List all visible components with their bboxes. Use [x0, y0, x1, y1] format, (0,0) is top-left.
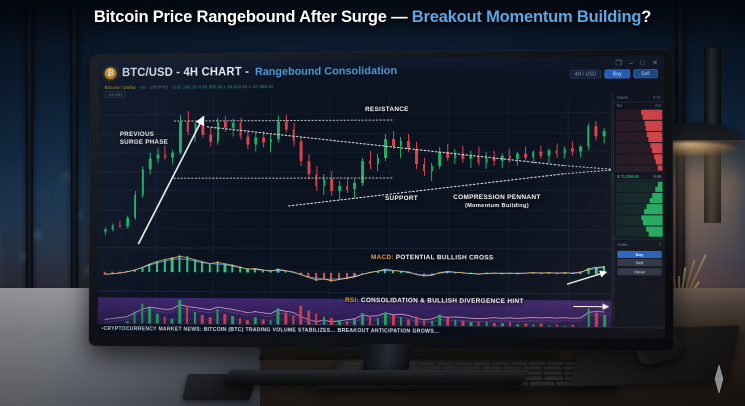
maximize-icon[interactable]: □	[640, 60, 644, 67]
orderbook-ask-row[interactable]	[616, 115, 662, 120]
orderbook-header-right: 0.01	[653, 94, 661, 99]
chart-title: BTC/USD - 4H CHART -	[122, 66, 249, 79]
orderbook-ask-row[interactable]	[616, 131, 662, 136]
symbol-name: Bitcoin / Dollar	[105, 85, 136, 90]
annotation-line2: (Momentum Building)	[453, 202, 540, 210]
chart-area[interactable]: PREVIOUS SURGE PHASE RESISTANCE SUPPORT …	[98, 93, 612, 339]
annotation-rsi-label: RSI:	[345, 297, 359, 304]
annotation-rsi: RSI: CONSOLIDATION & BULLISH DIVERGENCE …	[345, 297, 524, 305]
orderbook-ask-row[interactable]	[616, 126, 662, 131]
annotation-macd: MACD: POTENTIAL BULLISH CROSS	[371, 254, 494, 261]
orderbook-spread-price: $ 71,538.60	[617, 173, 639, 178]
orderbook-bid-row[interactable]	[616, 187, 662, 192]
window-controls: ❐ – □ ✕	[615, 59, 658, 67]
headline-tail: ?	[641, 8, 651, 26]
orderbook-ask-row[interactable]	[616, 120, 662, 125]
orderbook-header-left: Depth	[617, 95, 628, 100]
orderbook-col-bid: Bid	[617, 104, 622, 108]
orderbook-bid-row[interactable]	[616, 220, 662, 225]
pennant-apex-upper	[565, 166, 616, 170]
chart-subtitle: Rangebound Consolidation	[255, 65, 397, 78]
orderbook-ask-row[interactable]	[616, 109, 662, 114]
orderbook-bid-row[interactable]	[616, 198, 662, 203]
annotation-previous-surge-phase: PREVIOUS SURGE PHASE	[120, 131, 168, 147]
orderbook-bid-row[interactable]	[616, 215, 662, 220]
headline-accent: Breakout Momentum Building	[412, 8, 641, 26]
orderbook-bid-row[interactable]	[616, 181, 662, 186]
orderbook-ask-row[interactable]	[616, 137, 662, 142]
resistance-line	[207, 125, 565, 166]
orderbook-ask-row[interactable]	[616, 154, 662, 159]
monitor: ₿ BTC/USD - 4H CHART - Rangebound Consol…	[84, 52, 668, 348]
annotation-rsi-text: CONSOLIDATION & BULLISH DIVERGENCE HINT	[359, 297, 524, 305]
close-icon[interactable]: ✕	[652, 59, 658, 67]
annotation-line1: COMPRESSION PENNANT	[453, 194, 540, 202]
annotation-macd-text: POTENTIAL BULLISH CROSS	[394, 254, 494, 261]
monitor-stand-base	[223, 370, 530, 385]
orderbook-bid-row[interactable]	[616, 232, 662, 237]
symbol-meta: · 4H · CRYPTO · O 67,240.10 H 68,905.50 …	[137, 84, 273, 90]
annotation-line2: SURGE PHASE	[120, 139, 168, 147]
page-title: Bitcoin Price Rangebound After Surge — B…	[0, 8, 745, 27]
order-sell-button[interactable]: Sell	[617, 259, 661, 266]
buy-button[interactable]: Buy	[605, 69, 630, 78]
order-buy-button[interactable]: Buy	[617, 250, 661, 257]
annotation-resistance: RESISTANCE	[365, 106, 409, 113]
order-panel-title: Order	[617, 242, 628, 247]
restore-icon[interactable]: ❐	[615, 59, 621, 67]
bitcoin-icon: ₿	[105, 67, 117, 79]
order-panel-menu-icon[interactable]: ≡	[659, 242, 661, 247]
orderbook-bid-row[interactable]	[616, 226, 662, 231]
orderbook-ask-row[interactable]	[616, 148, 662, 153]
orderbook-ask-row[interactable]	[616, 143, 662, 148]
orderbook-widget[interactable]: Depth0.01BidAsk$ 71,538.600.06Order≡BuyS…	[613, 92, 665, 322]
trading-application: ₿ BTC/USD - 4H CHART - Rangebound Consol…	[98, 56, 666, 339]
sparkle-watermark	[707, 364, 731, 394]
timeframe-selector[interactable]: 4H / USD	[570, 70, 602, 79]
orderbook-bid-row[interactable]	[616, 204, 662, 209]
minimize-icon[interactable]: –	[629, 60, 633, 67]
orderbook-spread-value: 0.06	[653, 173, 661, 178]
annotation-compression-pennant: COMPRESSION PENNANT (Momentum Building)	[453, 194, 540, 210]
orderbook-ask-row[interactable]	[616, 159, 662, 164]
orderbook-bid-row[interactable]	[616, 209, 662, 214]
orderbook-bid-row[interactable]	[616, 192, 662, 197]
headline-main: Bitcoin Price Rangebound After Surge —	[94, 8, 412, 26]
symbol-info-line: Bitcoin / Dollar · 4H · CRYPTO · O 67,24…	[105, 84, 274, 90]
order-close-button[interactable]: Close	[617, 268, 661, 275]
monitor-screen: ₿ BTC/USD - 4H CHART - Rangebound Consol…	[98, 56, 666, 339]
range-top-line	[174, 120, 393, 121]
orderbook-col-ask: Ask	[655, 104, 661, 108]
sell-button[interactable]: Sell	[633, 69, 658, 78]
annotation-support: SUPPORT	[385, 195, 418, 202]
orderbook-ask-row[interactable]	[616, 165, 662, 170]
annotation-line1: PREVIOUS	[120, 131, 168, 139]
annotation-macd-label: MACD:	[371, 254, 394, 261]
app-toolbar: 4H / USD Buy Sell	[570, 69, 658, 79]
pennant-apex-lower	[565, 170, 616, 174]
